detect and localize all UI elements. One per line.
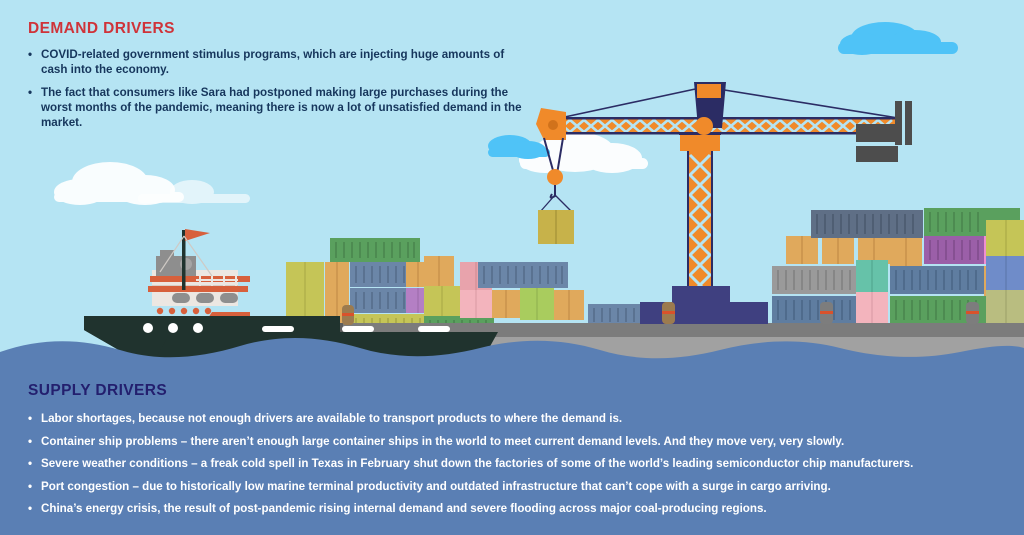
bollard-band (966, 311, 979, 314)
list-item: • China’s energy crisis, the result of p… (28, 501, 1008, 516)
list-item-text: The fact that consumers like Sara had po… (41, 86, 522, 130)
bullet-icon: • (28, 85, 32, 100)
demand-drivers-list: • COVID-related government stimulus prog… (28, 47, 528, 130)
yard-container (986, 220, 1024, 256)
list-item-text: Labor shortages, because not enough driv… (41, 412, 622, 425)
bullet-icon: • (28, 434, 32, 449)
demand-drivers-section: DEMAND DRIVERS • COVID-related governmen… (28, 20, 528, 137)
list-item-text: Container ship problems – there aren’t e… (41, 435, 844, 448)
counterweight-block-lower (856, 146, 898, 162)
bullet-icon: • (28, 456, 32, 471)
barge-hull (640, 302, 768, 324)
crane-trolley-sheave (548, 120, 558, 130)
bullet-icon: • (28, 47, 32, 62)
demand-drivers-title: DEMAND DRIVERS (28, 20, 528, 38)
ship-deck-stripe (148, 286, 248, 292)
ship-hull-marks (262, 326, 450, 332)
list-item-text: China’s energy crisis, the result of pos… (41, 502, 767, 515)
list-item: • The fact that consumers like Sara had … (28, 85, 528, 131)
list-item: • Labor shortages, because not enough dr… (28, 411, 1008, 426)
supply-drivers-list: • Labor shortages, because not enough dr… (28, 411, 1008, 516)
crane-pivot (695, 117, 713, 135)
infographic-canvas: DEMAND DRIVERS • COVID-related governmen… (0, 0, 1024, 535)
counterweight-bar-b (905, 101, 912, 145)
ship-radar (180, 258, 192, 270)
bollard-band (342, 313, 354, 316)
list-item-text: Severe weather conditions – a freak cold… (41, 457, 913, 470)
list-item-text: COVID-related government stimulus progra… (41, 48, 504, 76)
list-item: • Container ship problems – there aren’t… (28, 434, 1008, 449)
yard-ribs (930, 240, 978, 260)
bullet-icon: • (28, 479, 32, 494)
list-item-text: Port congestion – due to historically lo… (41, 480, 831, 493)
bollard-band (820, 311, 833, 314)
crane-hook-sheave (547, 169, 563, 185)
crane-jib-top-chord (552, 117, 902, 120)
list-item: • Severe weather conditions – a freak co… (28, 456, 1008, 471)
yard-container (811, 210, 923, 238)
list-item: • COVID-related government stimulus prog… (28, 47, 528, 78)
list-item: • Port congestion – due to historically … (28, 479, 1008, 494)
yard-ribs (930, 212, 978, 232)
supply-drivers-title: SUPPLY DRIVERS (28, 382, 1008, 400)
barge-house (672, 286, 730, 304)
bollard-band (662, 311, 675, 314)
crane-jib-bottom-chord (552, 132, 902, 135)
yard-container (986, 290, 1024, 324)
bullet-icon: • (28, 411, 32, 426)
yard-container (986, 256, 1024, 290)
bullet-icon: • (28, 501, 32, 516)
crane-cabin-window (697, 84, 721, 98)
ship-windows (172, 293, 238, 303)
supply-drivers-section: SUPPLY DRIVERS • Labor shortages, becaus… (28, 382, 1008, 524)
counterweight-block-upper (856, 124, 898, 142)
